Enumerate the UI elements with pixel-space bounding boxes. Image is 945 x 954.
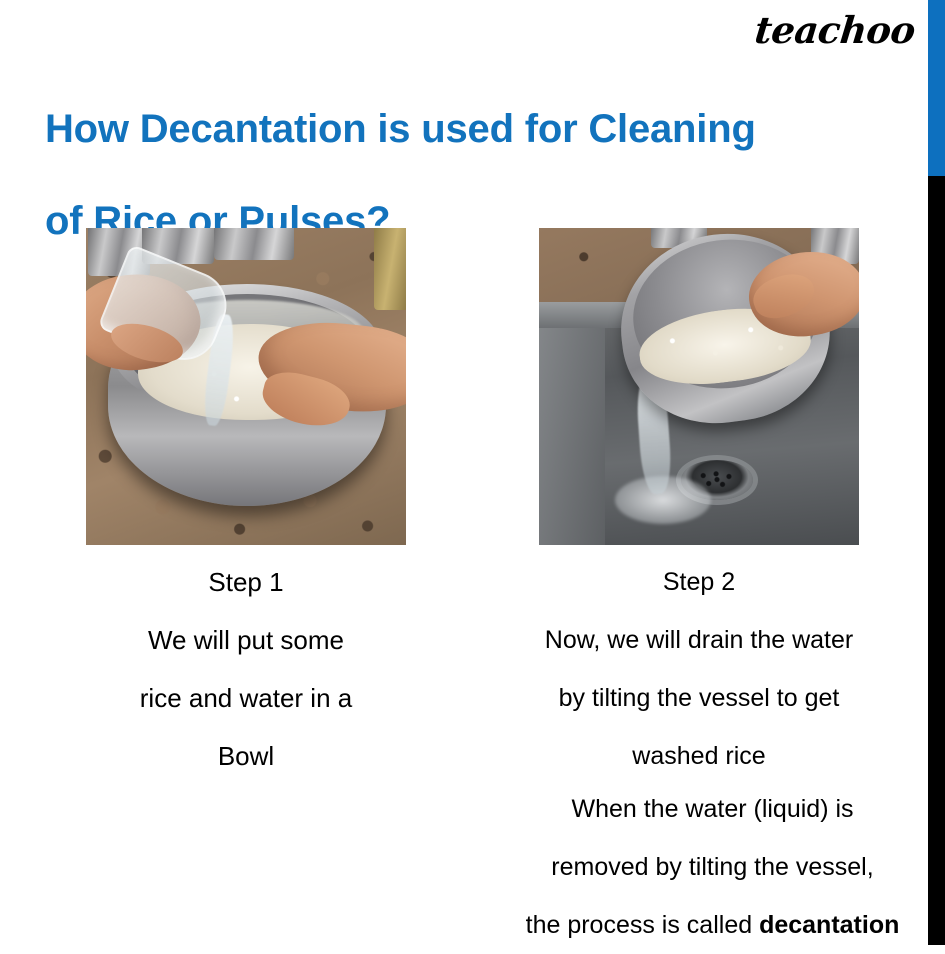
step-2-caption-line-2: by tilting the vessel to get <box>539 669 859 727</box>
step-column-2: Step 2 Now, we will drain the water by t… <box>539 228 859 785</box>
step-1-photo-rice-bowl-pouring-water <box>86 228 406 545</box>
step-1-label: Step 1 <box>86 553 406 611</box>
step-1-caption-line-3: Bowl <box>86 727 406 785</box>
right-edge-accent-bar-blue <box>928 0 945 176</box>
step-2-label: Step 2 <box>539 553 859 611</box>
step-1-caption: Step 1 We will put some rice and water i… <box>86 553 406 785</box>
step-1-caption-line-1: We will put some <box>86 611 406 669</box>
page-title-line-1: How Decantation is used for Cleaning <box>45 83 905 175</box>
teachoo-logo: teachoo <box>753 12 917 49</box>
definition-note-line-3-text: the process is called <box>526 911 759 939</box>
definition-note-line-1: When the water (liquid) is <box>490 780 935 838</box>
step-2-caption: Step 2 Now, we will drain the water by t… <box>539 553 859 785</box>
background-pot-3 <box>214 228 294 260</box>
step-2-caption-line-1: Now, we will drain the water <box>539 611 859 669</box>
brass-jar <box>374 228 406 310</box>
step-1-caption-line-2: rice and water in a <box>86 669 406 727</box>
decantation-keyword: decantation <box>759 911 899 939</box>
definition-note: When the water (liquid) is removed by ti… <box>490 780 935 954</box>
definition-note-line-3: the process is called decantation <box>490 896 935 954</box>
step-2-photo-draining-water-into-sink <box>539 228 859 545</box>
step-2-caption-line-3: washed rice <box>539 727 859 785</box>
definition-note-line-2: removed by tilting the vessel, <box>490 838 935 896</box>
step-column-1: Step 1 We will put some rice and water i… <box>86 228 406 785</box>
sink-left-wall <box>539 302 605 545</box>
